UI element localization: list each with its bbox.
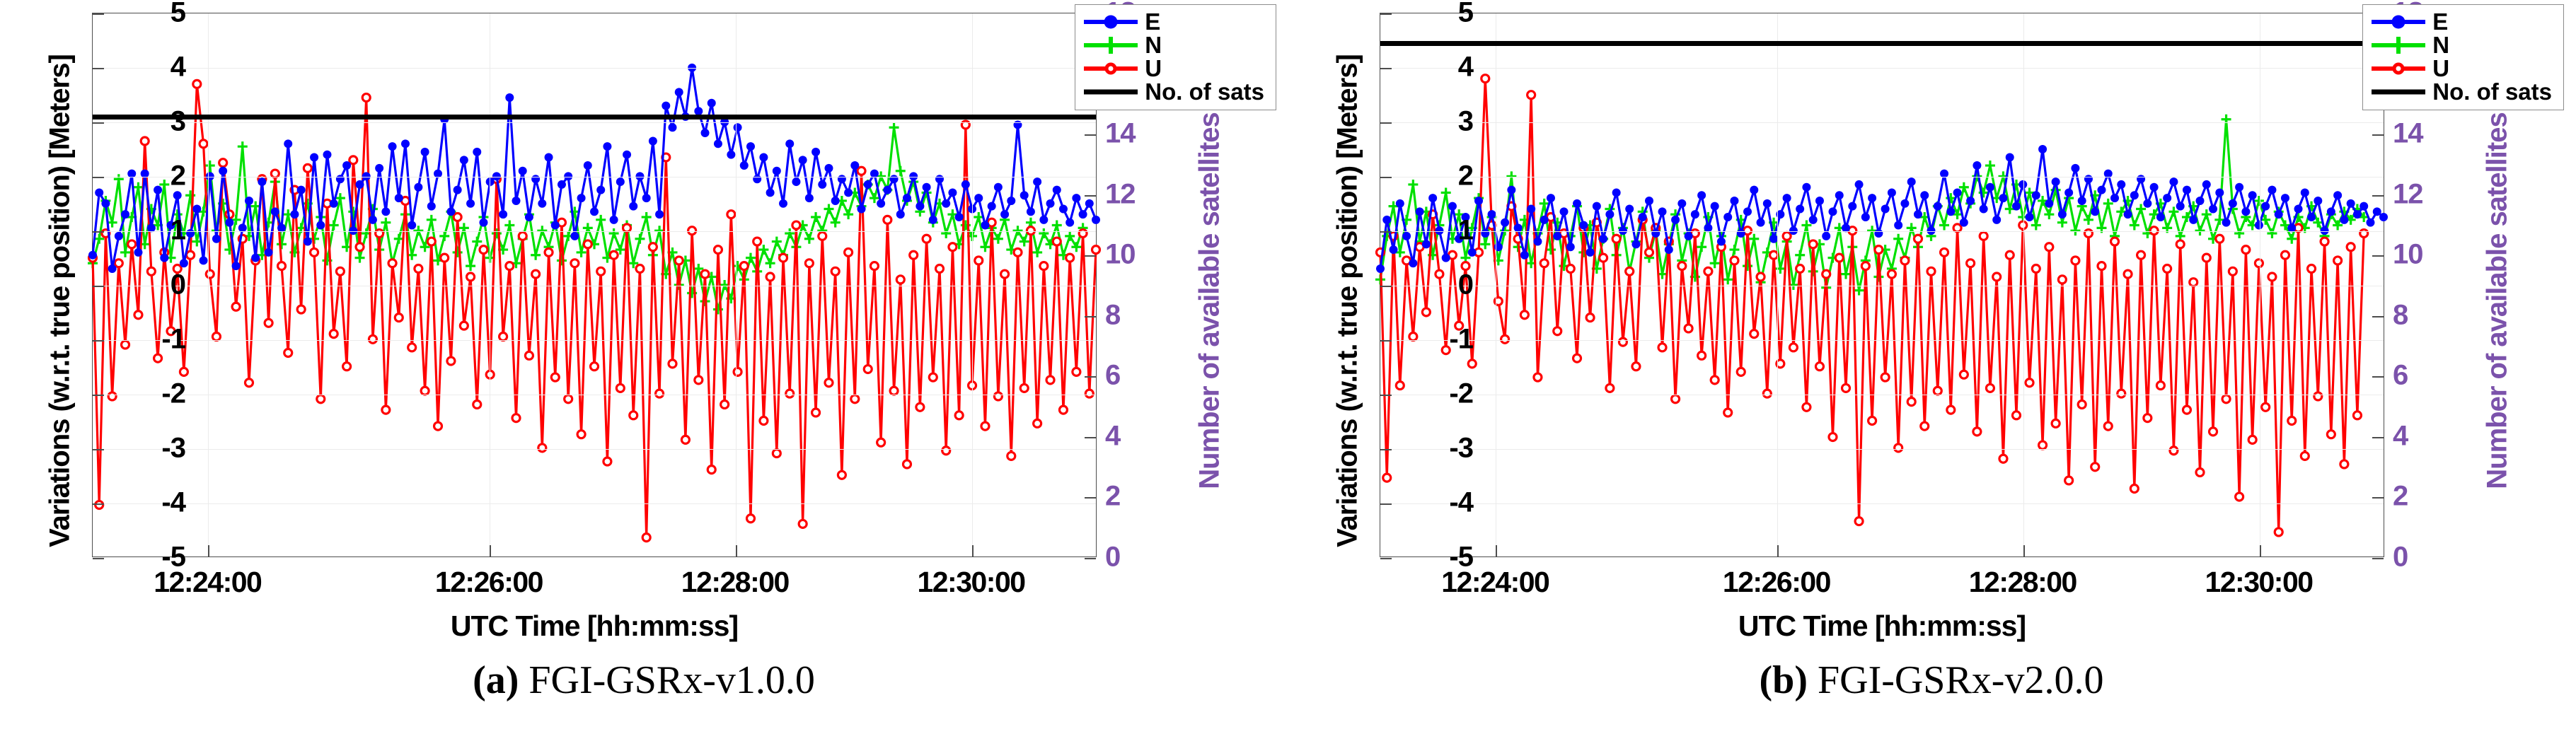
gridline-horizontal: [1380, 503, 2384, 504]
gridline-horizontal: [1380, 68, 2384, 69]
gridline-horizontal: [93, 231, 1096, 232]
x-tick-mark: [2260, 545, 2261, 556]
legend-a: E N U No. of sats: [1075, 4, 1276, 110]
legend-marker-e: [1084, 13, 1138, 30]
y-tick-label-right: 12: [1105, 178, 1169, 210]
y-tick-label-right: 8: [2393, 299, 2456, 331]
x-tick-mark: [736, 545, 737, 556]
y-tick-label-left: 2: [1388, 161, 1473, 192]
y-tick-label-right: 4: [2393, 420, 2456, 452]
y-tick-label-left: 0: [1388, 269, 1473, 301]
y-tick-label-right: 14: [2393, 118, 2456, 150]
legend-label-sats: No. of sats: [1145, 80, 1264, 103]
y-tick-label-left: 1: [100, 215, 185, 247]
caption-text-b: FGI-GSRx-v2.0.0: [1818, 658, 2103, 702]
y-tick-label-left: -2: [1388, 378, 1473, 410]
panel-a: Variations (w.r.t. true position) [Meter…: [7, 0, 1281, 746]
y-tick-label-left: -2: [100, 378, 185, 410]
x-tick-mark: [490, 545, 491, 556]
y-tick-label-right: 6: [1105, 360, 1169, 392]
y-tick-mark-right: [1085, 195, 1096, 197]
caption-label-b: (b): [1760, 658, 1808, 702]
y-tick-label-right: 8: [1105, 299, 1169, 331]
y-tick-label-left: 1: [1388, 215, 1473, 247]
y-tick-label-left: 2: [100, 161, 185, 192]
panel-b: Variations (w.r.t. true position) [Meter…: [1295, 0, 2568, 746]
x-tick-label: 12:30:00: [2205, 566, 2312, 599]
y-tick-label-right: 2: [2393, 481, 2456, 513]
gridline-vertical: [1777, 13, 1778, 556]
legend-label-sats: No. of sats: [2432, 80, 2552, 103]
y-tick-label-left: -4: [1388, 487, 1473, 519]
y-tick-label-left: -3: [1388, 433, 1473, 465]
y-tick-label-right: 0: [2393, 542, 2456, 573]
y-tick-label-left: 4: [100, 52, 185, 83]
x-tick-mark: [972, 545, 974, 556]
gridline-horizontal: [1380, 231, 2384, 232]
x-tick-label: 12:26:00: [435, 566, 543, 599]
legend-item-e[interactable]: E: [1084, 10, 1264, 33]
gridline-horizontal: [93, 340, 1096, 341]
y-axis-label-right-a: Number of available satellites: [1194, 33, 1226, 570]
y-tick-mark-right: [2372, 437, 2384, 438]
gridline-vertical: [208, 13, 209, 556]
legend-marker-e: [2372, 13, 2425, 30]
legend-label-e: E: [2432, 10, 2448, 33]
x-tick-label: 12:24:00: [154, 566, 261, 599]
y-tick-label-left: 5: [100, 0, 185, 29]
x-tick-mark: [1496, 545, 1497, 556]
gridline-horizontal: [93, 503, 1096, 504]
y-tick-mark-right: [1085, 558, 1096, 559]
series-canvas-b: [1380, 13, 2384, 556]
y-tick-mark-right: [2372, 255, 2384, 257]
caption-label-a: (a): [473, 658, 519, 702]
y-tick-label-left: -1: [100, 324, 185, 356]
x-tick-mark: [1777, 545, 1779, 556]
y-axis-label-left-b: Variations (w.r.t. true position) [Meter…: [1332, 33, 1364, 570]
legend-item-e[interactable]: E: [2372, 10, 2552, 33]
x-tick-label: 12:24:00: [1441, 566, 1549, 599]
y-tick-label-right: 0: [1105, 542, 1169, 573]
y-tick-mark-right: [2372, 376, 2384, 378]
gridline-horizontal: [93, 68, 1096, 69]
series-canvas-a: [93, 13, 1096, 556]
legend-label-u: U: [2432, 57, 2449, 80]
gridline-horizontal: [93, 177, 1096, 177]
series-markers-u: [89, 80, 1100, 541]
x-tick-mark: [2023, 545, 2025, 556]
y-tick-mark-right: [1085, 376, 1096, 378]
y-tick-label-right: 10: [1105, 239, 1169, 271]
y-tick-label-left: 3: [1388, 106, 1473, 138]
y-tick-label-left: -4: [100, 487, 185, 519]
y-tick-label-right: 4: [1105, 420, 1169, 452]
gridline-vertical: [2023, 13, 2024, 556]
gridline-horizontal: [1380, 122, 2384, 123]
caption-b: (b) FGI-GSRx-v2.0.0: [1295, 658, 2568, 703]
y-tick-mark-right: [2372, 134, 2384, 136]
legend-marker-u: [2372, 60, 2425, 77]
y-tick-label-left: 3: [100, 106, 185, 138]
gridline-vertical: [490, 13, 490, 556]
gridline-horizontal: [1380, 177, 2384, 177]
y-tick-mark-right: [1085, 255, 1096, 257]
legend-marker-sats: [1084, 83, 1138, 100]
x-axis-label-b: UTC Time [hh:mm:ss]: [1380, 610, 2384, 643]
y-tick-label-left: 5: [1388, 0, 1473, 29]
plot-area-b: [1380, 13, 2384, 557]
satellite-count-line: [93, 115, 1096, 120]
gridline-vertical: [736, 13, 737, 556]
series-line-u: [1380, 78, 2364, 532]
satellite-count-line: [1380, 41, 2384, 46]
gridline-vertical: [2260, 13, 2260, 556]
legend-item-sats[interactable]: No. of sats: [2372, 80, 2552, 103]
legend-marker-sats: [2372, 83, 2425, 100]
gridline-horizontal: [1380, 286, 2384, 286]
gridline-horizontal: [93, 286, 1096, 286]
legend-label-n: N: [2432, 33, 2449, 57]
y-tick-label-left: 0: [100, 269, 185, 301]
x-tick-label: 12:28:00: [681, 566, 789, 599]
y-axis-label-right-b: Number of available satellites: [2482, 33, 2514, 570]
gridline-horizontal: [1380, 395, 2384, 395]
legend-label-e: E: [1145, 10, 1160, 33]
y-tick-label-left: -1: [1388, 324, 1473, 356]
y-tick-label-right: 2: [1105, 481, 1169, 513]
gridline-horizontal: [93, 395, 1096, 395]
y-tick-label-left: -3: [100, 433, 185, 465]
x-tick-mark: [208, 545, 209, 556]
x-tick-label: 12:26:00: [1723, 566, 1830, 599]
y-axis-label-left-a: Variations (w.r.t. true position) [Meter…: [45, 33, 76, 570]
y-tick-mark-right: [1085, 497, 1096, 499]
y-tick-mark-right: [2372, 497, 2384, 499]
legend-marker-u: [1084, 60, 1138, 77]
plot-area-a: [92, 13, 1097, 557]
legend-item-u[interactable]: U: [1084, 57, 1264, 80]
legend-marker-n: [2372, 37, 2425, 54]
legend-marker-n: [1084, 37, 1138, 54]
legend-label-u: U: [1145, 57, 1162, 80]
x-tick-label: 12:30:00: [917, 566, 1024, 599]
figure-root: Variations (w.r.t. true position) [Meter…: [0, 0, 2576, 746]
legend-item-n[interactable]: N: [2372, 33, 2552, 57]
y-tick-mark-right: [1085, 134, 1096, 136]
y-tick-mark-right: [2372, 316, 2384, 317]
gridline-vertical: [972, 13, 973, 556]
caption-text-a: FGI-GSRx-v1.0.0: [529, 658, 814, 702]
gridline-horizontal: [1380, 449, 2384, 450]
y-tick-label-right: 10: [2393, 239, 2456, 271]
legend-item-u[interactable]: U: [2372, 57, 2552, 80]
y-tick-mark-right: [2372, 558, 2384, 559]
legend-label-n: N: [1145, 33, 1162, 57]
y-tick-mark-right: [1085, 437, 1096, 438]
gridline-vertical: [1496, 13, 1496, 556]
legend-b: E N U No. of sats: [2362, 4, 2564, 110]
y-tick-label-right: 12: [2393, 178, 2456, 210]
y-tick-label-left: 4: [1388, 52, 1473, 83]
legend-item-n[interactable]: N: [1084, 33, 1264, 57]
gridline-horizontal: [93, 122, 1096, 123]
y-tick-label-right: 6: [2393, 360, 2456, 392]
y-tick-mark-right: [2372, 195, 2384, 197]
y-tick-mark-right: [1085, 316, 1096, 317]
y-tick-label-right: 14: [1105, 118, 1169, 150]
legend-item-sats[interactable]: No. of sats: [1084, 80, 1264, 103]
x-tick-label: 12:28:00: [1969, 566, 2077, 599]
caption-a: (a) FGI-GSRx-v1.0.0: [7, 658, 1281, 703]
x-axis-label-a: UTC Time [hh:mm:ss]: [92, 610, 1097, 643]
gridline-horizontal: [93, 449, 1096, 450]
gridline-horizontal: [1380, 340, 2384, 341]
